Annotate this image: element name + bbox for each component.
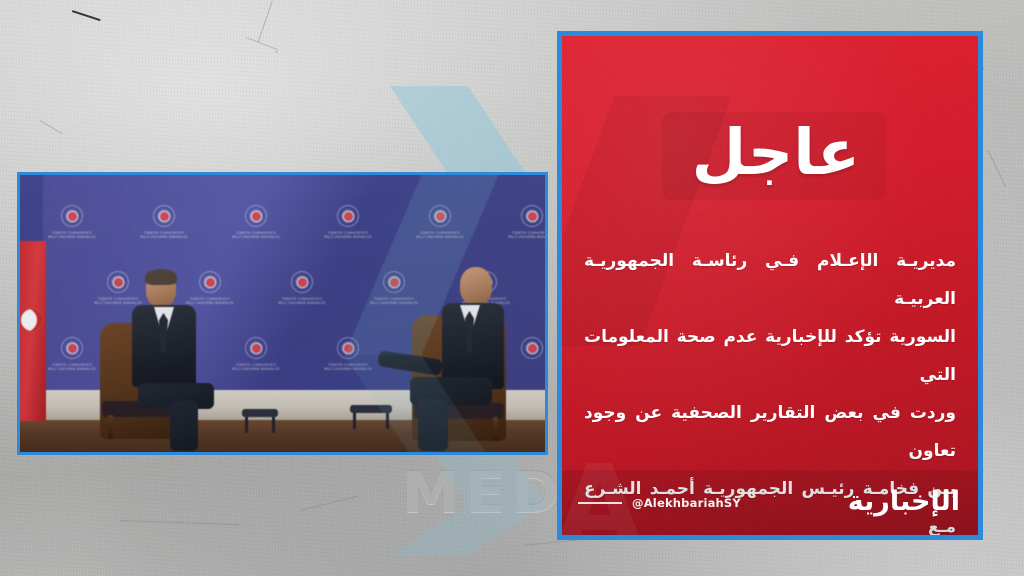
news-graphic-canvas: MEDIA TÜRKİYE CUMHURİYETİ MİLLÎ SAVUNMA …: [0, 0, 1024, 576]
urgent-badge-label: عاجل: [692, 116, 860, 190]
panel-footer: A @AlekhbariahSY الإخبارية: [562, 469, 978, 535]
social-handle[interactable]: @AlekhbariahSY: [578, 496, 741, 510]
photo-scene: TÜRKİYE CUMHURİYETİ MİLLÎ SAVUNMA BAKANL…: [20, 175, 545, 452]
body-line: مديريـة الإعـلام فـي رئاسـة الجمهوريـة ا…: [584, 242, 956, 318]
breaking-news-panel: عاجل مديريـة الإعـلام فـي رئاسـة الجمهور…: [557, 31, 983, 540]
handle-rule-divider: [578, 502, 622, 504]
body-line: السورية تؤكد للإخبارية عدم صحة المعلومات…: [584, 318, 956, 394]
social-handle-text: @AlekhbariahSY: [632, 496, 741, 510]
news-photo: TÜRKİYE CUMHURİYETİ MİLLÎ SAVUNMA BAKANL…: [17, 172, 548, 455]
channel-logo: الإخبارية: [848, 484, 960, 520]
urgent-badge: عاجل: [662, 112, 886, 200]
photo-softening: [20, 175, 545, 452]
